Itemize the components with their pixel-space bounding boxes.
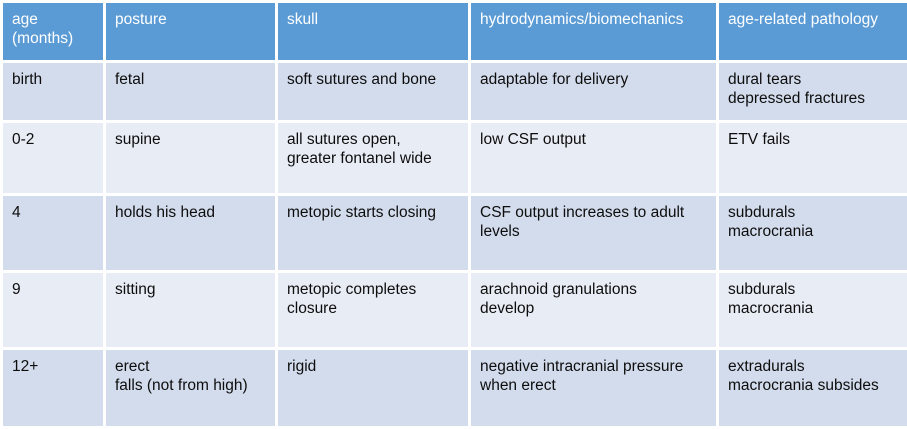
table-row: birth fetal soft sutures and bone adapta…	[3, 63, 907, 120]
cell-skull: rigid	[278, 350, 468, 426]
cell-age: birth	[3, 63, 103, 120]
cell-posture: supine	[106, 123, 275, 193]
cell-hydrodynamics: adaptable for delivery	[471, 63, 716, 120]
table-row: 9 sitting metopic completes closure arac…	[3, 273, 907, 347]
age-development-table: age (months) posture skull hydrodynamics…	[0, 0, 907, 429]
cell-age: 0-2	[3, 123, 103, 193]
column-header-posture: posture	[106, 3, 275, 60]
table-row: 0-2 supine all sutures open, greater fon…	[3, 123, 907, 193]
cell-hydrodynamics: negative intracranial pressure when erec…	[471, 350, 716, 426]
cell-age: 4	[3, 196, 103, 270]
table-row: 12+ erect falls (not from high) rigid ne…	[3, 350, 907, 426]
cell-posture: sitting	[106, 273, 275, 347]
cell-posture: fetal	[106, 63, 275, 120]
column-header-pathology: age-related pathology	[719, 3, 907, 60]
cell-skull: metopic starts closing	[278, 196, 468, 270]
column-header-skull: skull	[278, 3, 468, 60]
table-body: birth fetal soft sutures and bone adapta…	[3, 63, 907, 426]
cell-pathology: dural tears depressed fractures	[719, 63, 907, 120]
cell-pathology: subdurals macrocrania	[719, 273, 907, 347]
cell-hydrodynamics: CSF output increases to adult levels	[471, 196, 716, 270]
table-header: age (months) posture skull hydrodynamics…	[3, 3, 907, 60]
table-row: 4 holds his head metopic starts closing …	[3, 196, 907, 270]
cell-age: 12+	[3, 350, 103, 426]
cell-pathology: extradurals macrocrania subsides	[719, 350, 907, 426]
cell-skull: soft sutures and bone	[278, 63, 468, 120]
cell-pathology: ETV fails	[719, 123, 907, 193]
cell-posture: erect falls (not from high)	[106, 350, 275, 426]
cell-hydrodynamics: low CSF output	[471, 123, 716, 193]
cell-skull: all sutures open, greater fontanel wide	[278, 123, 468, 193]
column-header-hydrodynamics: hydrodynamics/biomechanics	[471, 3, 716, 60]
cell-skull: metopic completes closure	[278, 273, 468, 347]
cell-age: 9	[3, 273, 103, 347]
column-header-age: age (months)	[3, 3, 103, 60]
header-row: age (months) posture skull hydrodynamics…	[3, 3, 907, 60]
table-container: age (months) posture skull hydrodynamics…	[0, 0, 907, 421]
cell-posture: holds his head	[106, 196, 275, 270]
cell-hydrodynamics: arachnoid granulations develop	[471, 273, 716, 347]
cell-pathology: subdurals macrocrania	[719, 196, 907, 270]
